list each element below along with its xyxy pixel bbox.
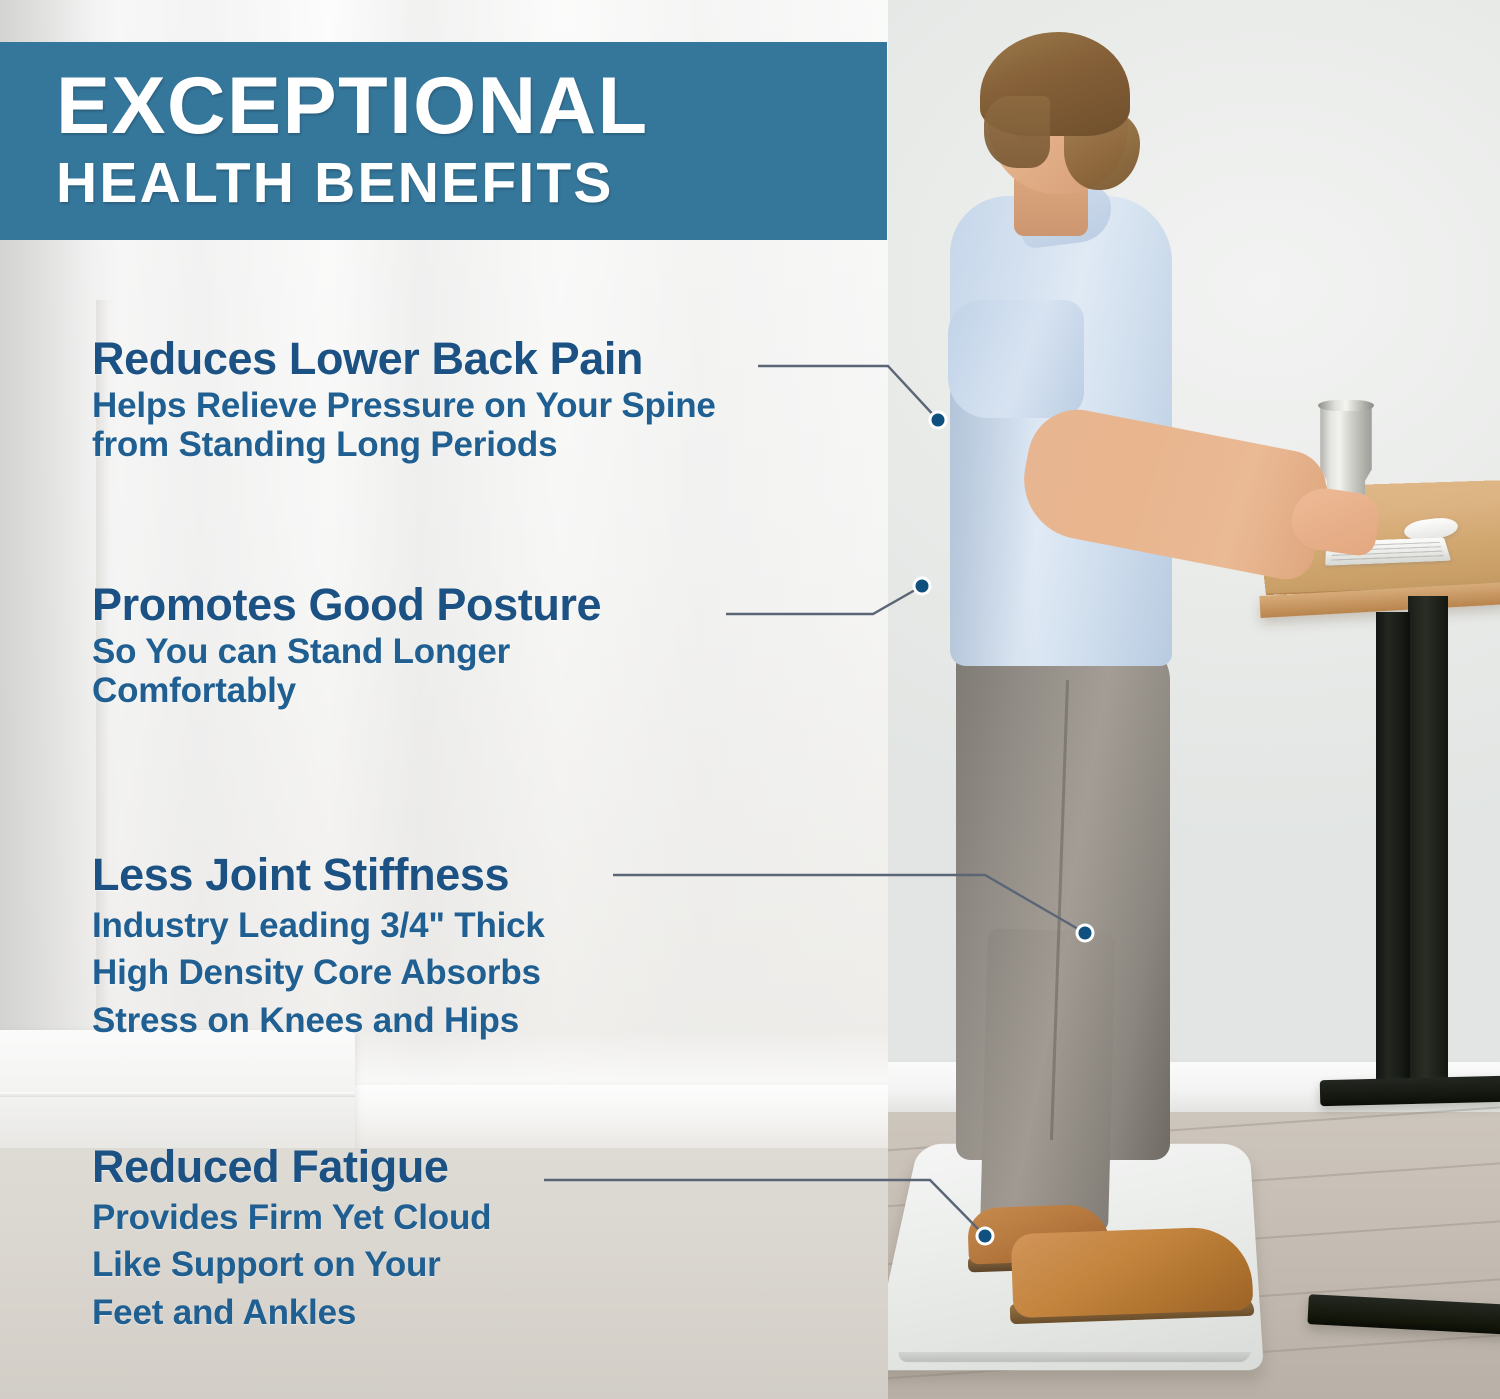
benefit-block-less-joint-stiffness: Less Joint Stiffness Industry Leading 3/…: [92, 852, 545, 1044]
benefit-description-line: Provides Firm Yet Cloud: [92, 1194, 491, 1241]
benefit-description: Industry Leading 3/4" Thick High Density…: [92, 902, 545, 1044]
baseboard-corner-block: [0, 1030, 355, 1150]
benefit-description-line: Helps Relieve Pressure on Your Spine: [92, 386, 716, 425]
benefit-description-line: Industry Leading 3/4" Thick: [92, 902, 545, 949]
benefit-description-line: Feet and Ankles: [92, 1289, 491, 1336]
benefit-block-reduces-lower-back-pain: Reduces Lower Back Pain Helps Relieve Pr…: [92, 336, 716, 464]
benefit-title: Promotes Good Posture: [92, 582, 601, 627]
benefit-description: So You can Stand Longer Comfortably: [92, 632, 601, 710]
infographic-canvas: EXCEPTIONAL HEALTH BENEFITS Reduces Lowe…: [0, 0, 1500, 1399]
benefit-description-line: High Density Core Absorbs: [92, 949, 545, 996]
benefit-description-line: Comfortably: [92, 671, 601, 710]
benefit-block-reduced-fatigue: Reduced Fatigue Provides Firm Yet Cloud …: [92, 1144, 491, 1336]
benefit-block-promotes-good-posture: Promotes Good Posture So You can Stand L…: [92, 582, 601, 710]
benefit-description: Provides Firm Yet Cloud Like Support on …: [92, 1194, 491, 1336]
standing-man: [888, 0, 1500, 1399]
hair-side-fade: [984, 96, 1050, 168]
benefit-description-line: Stress on Knees and Hips: [92, 997, 545, 1044]
benefit-title: Reduced Fatigue: [92, 1144, 491, 1189]
benefit-title: Less Joint Stiffness: [92, 852, 545, 897]
benefit-description: Helps Relieve Pressure on Your Spine fro…: [92, 386, 716, 464]
benefit-title: Reduces Lower Back Pain: [92, 336, 716, 381]
banner-title-line1: EXCEPTIONAL: [56, 68, 887, 144]
pants-front-leg: [980, 928, 1116, 1231]
header-banner: EXCEPTIONAL HEALTH BENEFITS: [0, 42, 887, 240]
benefit-description-line: from Standing Long Periods: [92, 425, 716, 464]
benefit-description-line: So You can Stand Longer: [92, 632, 601, 671]
benefit-description-line: Like Support on Your: [92, 1241, 491, 1288]
product-photo: [888, 0, 1500, 1399]
front-brown-shoe: [1011, 1226, 1254, 1318]
shirt-shadow: [950, 380, 1036, 666]
shirt-sleeve: [948, 300, 1084, 418]
banner-title-line2: HEALTH BENEFITS: [56, 154, 887, 214]
